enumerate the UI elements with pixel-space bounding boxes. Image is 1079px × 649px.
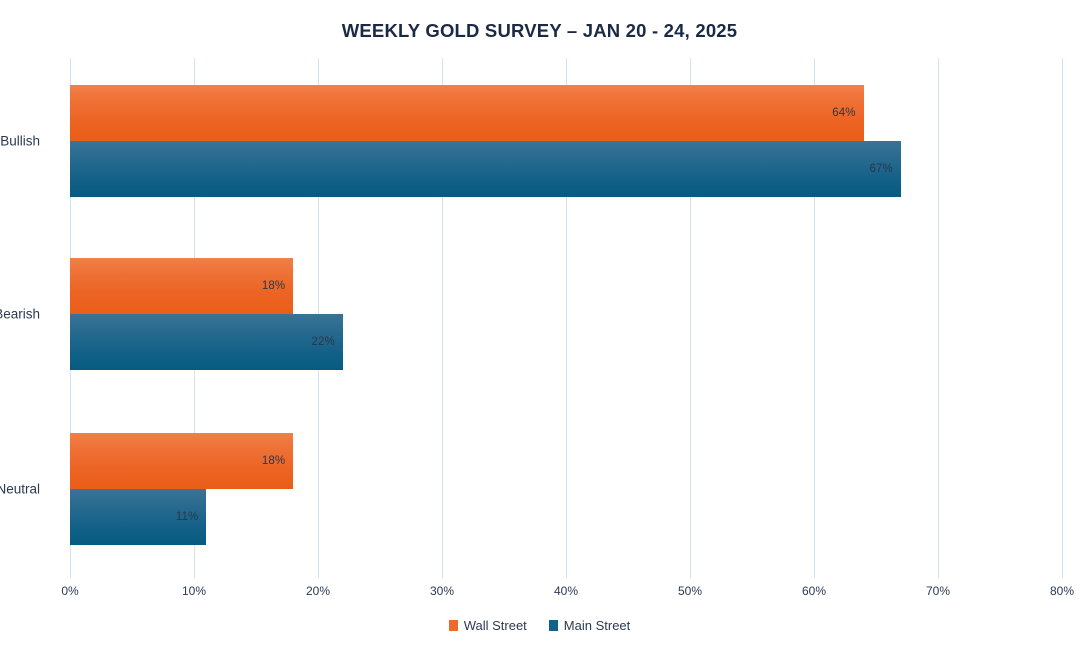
bar-group-bearish: Bearish18%22% bbox=[70, 258, 1062, 370]
bar-value-bearish-main-street: 22% bbox=[311, 336, 334, 348]
x-tick-label-80pct: 80% bbox=[1050, 584, 1074, 598]
bar-bearish-main-street[interactable]: 22% bbox=[70, 314, 343, 370]
bar-neutral-wall-street[interactable]: 18% bbox=[70, 433, 293, 489]
x-tick-label-10pct: 10% bbox=[182, 584, 206, 598]
x-tick-label-30pct: 30% bbox=[430, 584, 454, 598]
bar-neutral-main-street[interactable]: 11% bbox=[70, 489, 206, 545]
bar-bearish-wall-street[interactable]: 18% bbox=[70, 258, 293, 314]
bar-value-neutral-main-street: 11% bbox=[176, 511, 198, 523]
bar-group-bullish: Bullish64%67% bbox=[70, 85, 1062, 197]
x-tick-label-20pct: 20% bbox=[306, 584, 330, 598]
gridline-80pct bbox=[1062, 58, 1063, 578]
legend-swatch-icon-wall-street bbox=[449, 620, 458, 631]
category-label-bearish: Bearish bbox=[0, 307, 40, 322]
bar-value-bullish-wall-street: 64% bbox=[832, 107, 855, 119]
chart-container: WEEKLY GOLD SURVEY – JAN 20 - 24, 2025 B… bbox=[0, 0, 1079, 649]
legend-label-main-street: Main Street bbox=[564, 618, 630, 633]
category-label-bullish: Bullish bbox=[0, 134, 40, 149]
legend-item-wall-street[interactable]: Wall Street bbox=[449, 618, 527, 633]
bar-group-neutral: Neutral18%11% bbox=[70, 433, 1062, 545]
x-tick-label-50pct: 50% bbox=[678, 584, 702, 598]
legend-label-wall-street: Wall Street bbox=[464, 618, 527, 633]
bar-value-bullish-main-street: 67% bbox=[869, 163, 892, 175]
legend-swatch-icon-main-street bbox=[549, 620, 558, 631]
bar-bullish-wall-street[interactable]: 64% bbox=[70, 85, 864, 141]
plot-area: Bullish64%67%Bearish18%22%Neutral18%11% bbox=[70, 58, 1062, 578]
x-tick-label-0pct: 0% bbox=[61, 584, 78, 598]
bars-layer: Bullish64%67%Bearish18%22%Neutral18%11% bbox=[70, 58, 1062, 578]
chart-title: WEEKLY GOLD SURVEY – JAN 20 - 24, 2025 bbox=[0, 20, 1079, 42]
x-tick-label-60pct: 60% bbox=[802, 584, 826, 598]
bar-value-neutral-wall-street: 18% bbox=[262, 455, 285, 467]
bar-bullish-main-street[interactable]: 67% bbox=[70, 141, 901, 197]
category-label-neutral: Neutral bbox=[0, 482, 40, 497]
x-axis: 0%10%20%30%40%50%60%70%80% bbox=[70, 584, 1062, 606]
x-tick-label-40pct: 40% bbox=[554, 584, 578, 598]
x-tick-label-70pct: 70% bbox=[926, 584, 950, 598]
legend-item-main-street[interactable]: Main Street bbox=[549, 618, 630, 633]
chart-legend: Wall StreetMain Street bbox=[0, 618, 1079, 633]
bar-value-bearish-wall-street: 18% bbox=[262, 280, 285, 292]
